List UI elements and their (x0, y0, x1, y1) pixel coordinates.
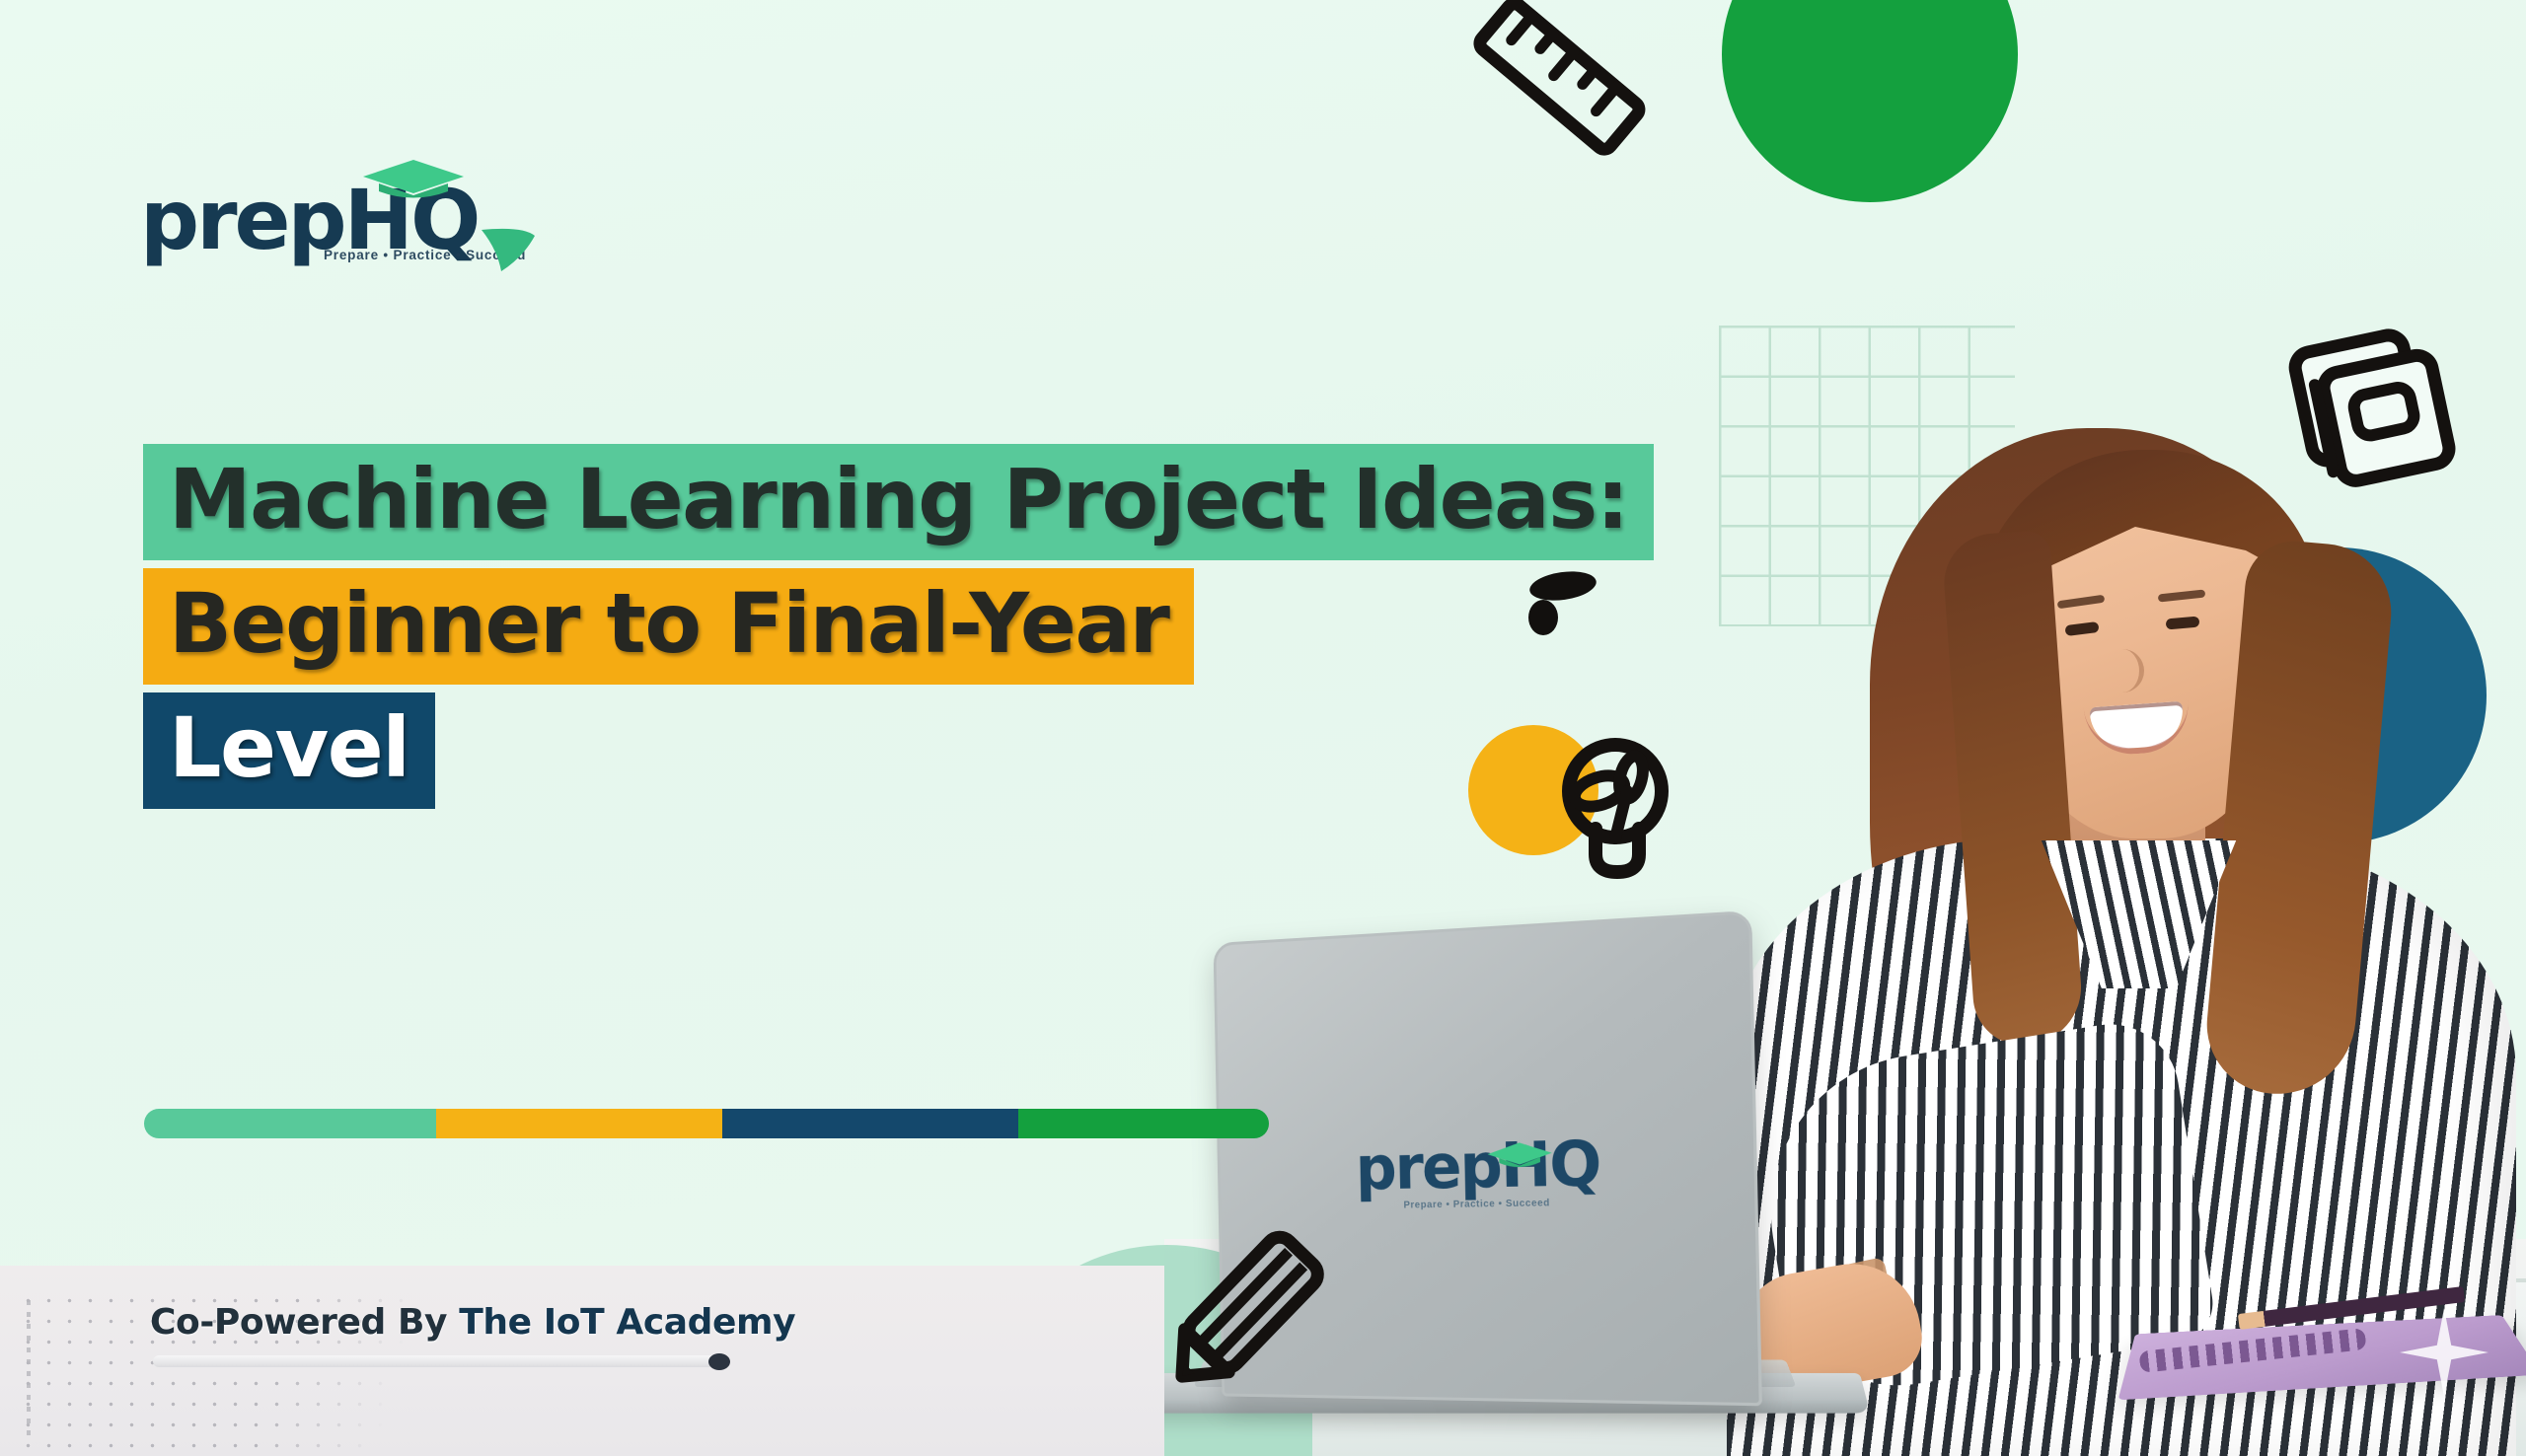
decor-tick-marks (27, 1300, 31, 1438)
graduation-cap-icon (359, 157, 468, 202)
laptop-logo-prep: prep (1355, 1129, 1502, 1204)
logo-text-prep: prep (140, 172, 344, 268)
co-powered-partner: The IoT Academy (459, 1302, 795, 1343)
graduation-cap-icon (1485, 1119, 1554, 1182)
laptop-brand-logo: prepHQ Prepare • Practice • Succeed (1320, 1132, 1639, 1212)
progress-segment-mint (144, 1109, 436, 1138)
laptop-logo-wordmark: prepHQ (1355, 1133, 1600, 1200)
headline-line-2: Beginner to Final-Year (143, 568, 1194, 685)
co-powered-prefix: Co-Powered By (150, 1302, 459, 1343)
co-powered-text: Co-Powered By The IoT Academy (150, 1302, 795, 1343)
pencil-icon (1156, 1223, 1369, 1420)
book-icon (2281, 314, 2469, 501)
headline-line-3: Level (143, 692, 435, 809)
leaf-swoosh-icon (478, 224, 541, 286)
banner-canvas: prepHQ Prepare • Practice • Succeed (0, 0, 2526, 1456)
headline-row-2: Beginner to Final-Year (143, 560, 1654, 685)
headline-line-1: Machine Learning Project Ideas: (143, 444, 1654, 560)
headline: Machine Learning Project Ideas: Beginner… (143, 444, 1654, 809)
laptop-logo-q: Q (1549, 1128, 1601, 1201)
headline-row-1: Machine Learning Project Ideas: (143, 444, 1654, 560)
progress-segment-navy (722, 1109, 1018, 1138)
progress-segment-green (1018, 1109, 1269, 1138)
brand-logo[interactable]: prepHQ Prepare • Practice • Succeed (140, 171, 545, 274)
headline-row-3: Level (143, 685, 1654, 809)
footer-rule-cap (708, 1353, 730, 1370)
progress-segment-amber (436, 1109, 722, 1138)
ruler-icon (1433, 0, 1660, 176)
progress-bar (144, 1109, 1269, 1138)
footer-rule (153, 1355, 725, 1367)
